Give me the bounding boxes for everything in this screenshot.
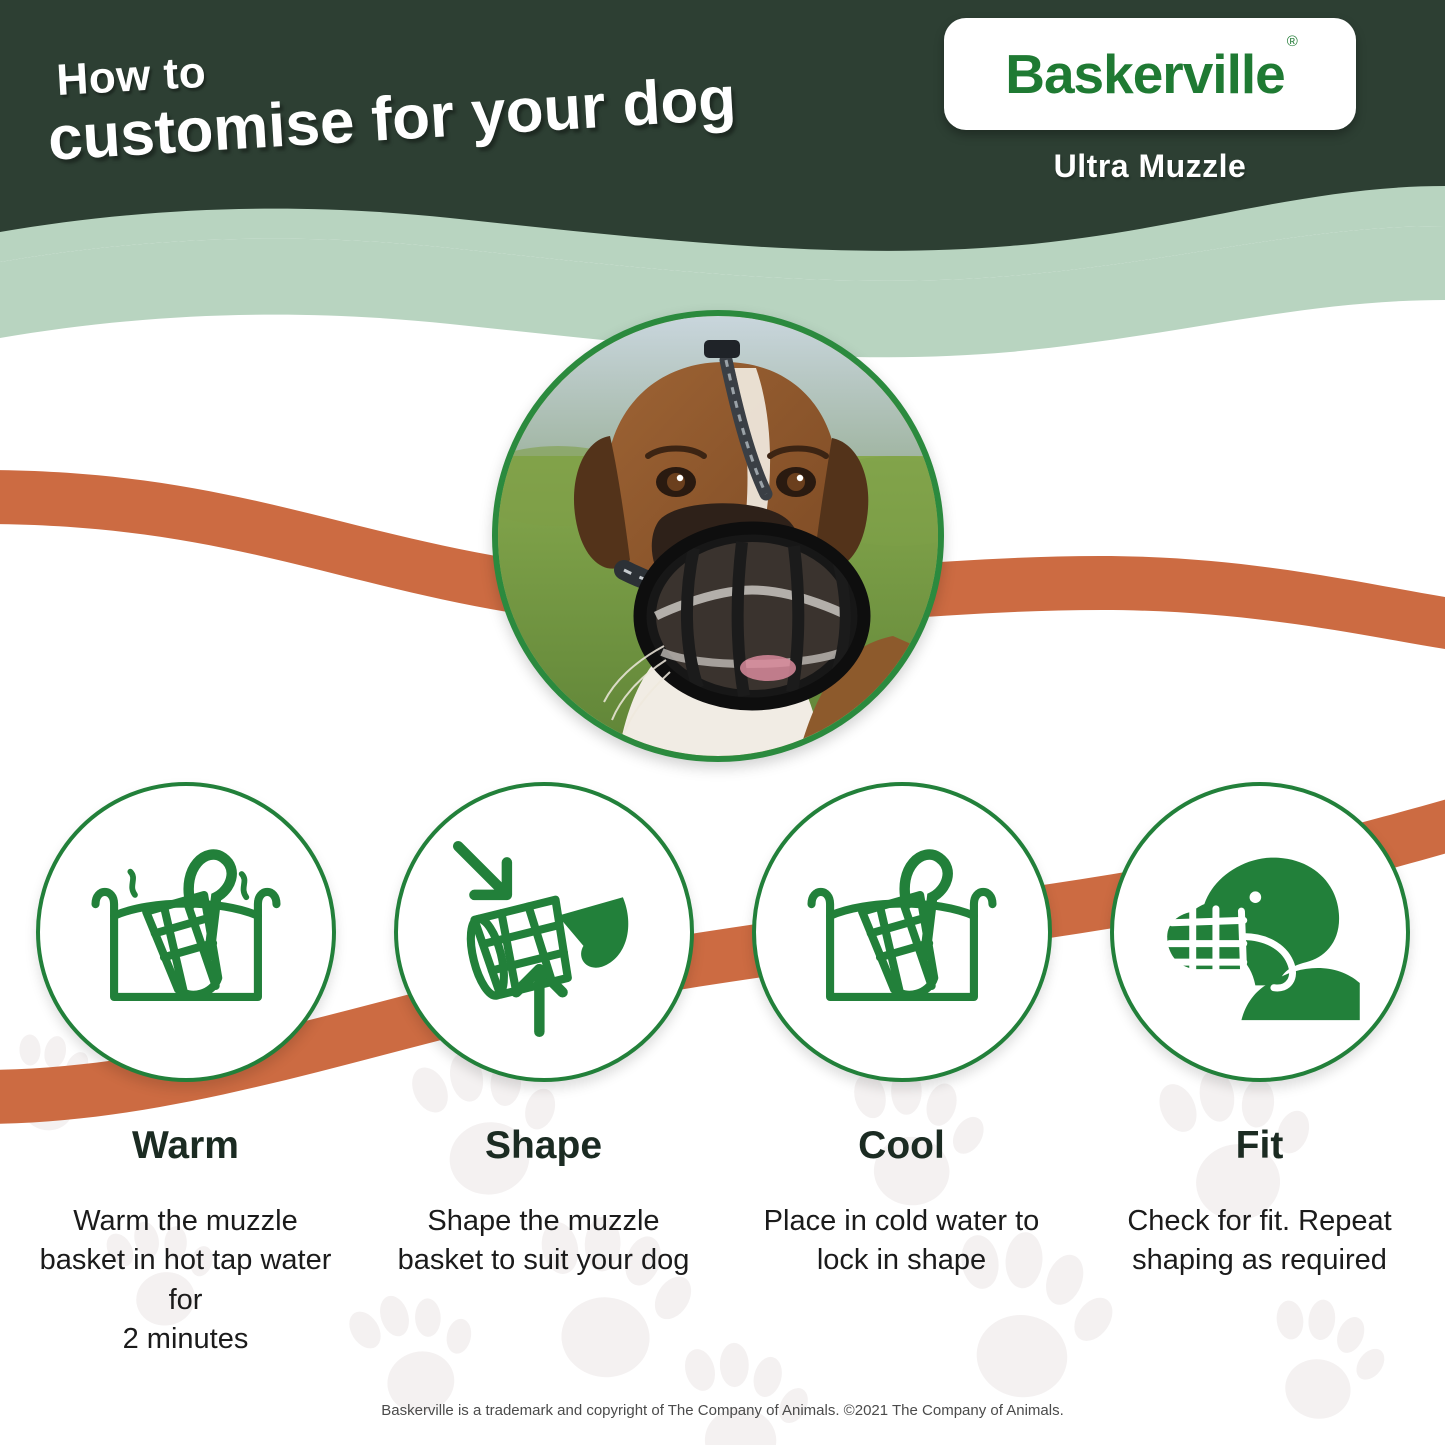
step-cool: Cool Place in cold water to lock in shap…	[752, 782, 1052, 1360]
step-warm: Warm Warm the muzzle basket in hot tap w…	[36, 782, 336, 1360]
muzzle-shaping-arrows-icon	[428, 816, 660, 1048]
brand-lockup: Baskerville® Ultra Muzzle	[944, 18, 1356, 185]
brand-logo-plate: Baskerville®	[944, 18, 1356, 130]
infographic-canvas: How to customise for your dog Baskervill…	[0, 0, 1445, 1445]
step-shape-body: Shape the muzzle basket to suit your dog	[396, 1202, 692, 1281]
brand-name: Baskerville®	[1005, 42, 1295, 106]
step-fit-body: Check for fit. Repeat shaping as require…	[1112, 1202, 1408, 1281]
step-cool-body: Place in cold water to lock in shape	[754, 1202, 1050, 1281]
product-name: Ultra Muzzle	[944, 148, 1356, 185]
muzzle-in-cold-basin-icon	[786, 816, 1018, 1048]
step-fit: Fit Check for fit. Repeat shaping as req…	[1110, 782, 1410, 1360]
step-fit-icon-circle	[1110, 782, 1410, 1082]
footer-legal-text: Baskerville is a trademark and copyright…	[0, 1402, 1445, 1419]
step-warm-title: Warm	[132, 1124, 239, 1168]
step-cool-title: Cool	[858, 1124, 945, 1168]
hero-photo-circle	[492, 310, 944, 762]
steps-row: Warm Warm the muzzle basket in hot tap w…	[0, 782, 1445, 1360]
boxer-dog-wearing-basket-muzzle-photo	[498, 316, 938, 756]
step-shape: Shape Shape the muzzle basket to suit yo…	[394, 782, 694, 1360]
muzzle-in-warm-basin-icon	[70, 816, 302, 1048]
step-shape-icon-circle	[394, 782, 694, 1082]
step-warm-icon-circle	[36, 782, 336, 1082]
step-fit-title: Fit	[1236, 1124, 1284, 1168]
dog-head-wearing-muzzle-icon	[1144, 816, 1376, 1048]
header-title-block: How to customise for your dog	[46, 56, 926, 175]
step-shape-title: Shape	[485, 1124, 602, 1168]
brand-name-text: Baskerville	[1005, 43, 1285, 105]
step-cool-icon-circle	[752, 782, 1052, 1082]
registered-trademark-icon: ®	[1287, 33, 1297, 50]
step-warm-body: Warm the muzzle basket in hot tap water …	[38, 1202, 334, 1360]
